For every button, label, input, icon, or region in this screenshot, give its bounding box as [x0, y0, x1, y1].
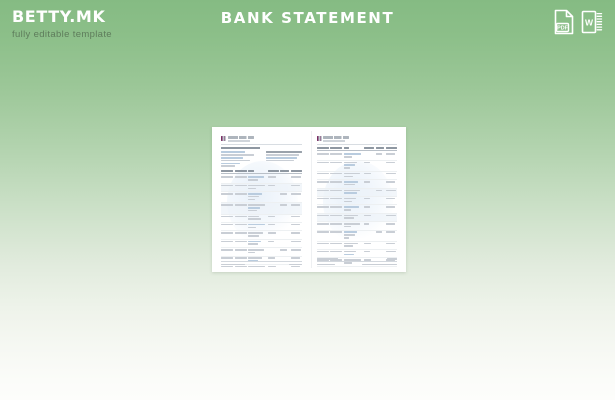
- table-row: [317, 180, 397, 188]
- bank-logo-icon: [317, 136, 322, 141]
- table-row: [317, 214, 397, 222]
- table-header-row: [221, 170, 302, 174]
- page-footer: [221, 261, 302, 265]
- pdf-file-icon[interactable]: PDF: [553, 9, 575, 35]
- bank-logo-header: [221, 136, 302, 142]
- table-row: [317, 242, 397, 250]
- table-row: [221, 184, 302, 192]
- table-row: [317, 172, 397, 180]
- table-row: [317, 152, 397, 160]
- table-row: [221, 215, 302, 223]
- bank-name-text: [323, 136, 349, 142]
- statement-page-right[interactable]: [311, 131, 402, 268]
- table-row: [317, 250, 397, 258]
- table-row: [221, 248, 302, 256]
- account-meta-block: [221, 151, 302, 168]
- brand-tagline: fully editable template: [12, 29, 232, 41]
- transactions-table: [317, 147, 397, 268]
- header-divider: [221, 144, 302, 145]
- page-footer: [317, 258, 397, 265]
- svg-text:W: W: [585, 17, 594, 27]
- table-row: [221, 231, 302, 239]
- poster-canvas: BETTY.MK fully editable template BANK ST…: [0, 0, 615, 400]
- table-row: [221, 192, 302, 203]
- account-holder-block: [221, 151, 262, 168]
- bank-name-text: [228, 136, 254, 142]
- table-row: [317, 189, 397, 197]
- bank-logo-header: [317, 136, 397, 142]
- table-header-row: [317, 147, 397, 151]
- table-row: [221, 203, 302, 214]
- statement-page-left[interactable]: [216, 131, 307, 268]
- table-row: [221, 240, 302, 248]
- transactions-table: [221, 170, 302, 268]
- statement-summary-block: [266, 151, 302, 168]
- page-title: BANK STATEMENT: [0, 9, 615, 27]
- document-preview-card[interactable]: [212, 127, 406, 272]
- format-icon-group: PDF W: [553, 9, 603, 35]
- word-file-icon[interactable]: W: [581, 9, 603, 35]
- statement-heading: [221, 147, 260, 149]
- table-row: [221, 265, 302, 268]
- table-row: [317, 222, 397, 230]
- table-row: [317, 197, 397, 205]
- table-row: [317, 267, 397, 268]
- bank-logo-icon: [221, 136, 226, 141]
- svg-text:PDF: PDF: [557, 26, 568, 32]
- table-row: [221, 176, 302, 184]
- table-row: [317, 161, 397, 172]
- header-divider: [317, 144, 397, 145]
- table-row: [317, 205, 397, 213]
- table-row: [221, 223, 302, 231]
- table-row: [317, 231, 397, 242]
